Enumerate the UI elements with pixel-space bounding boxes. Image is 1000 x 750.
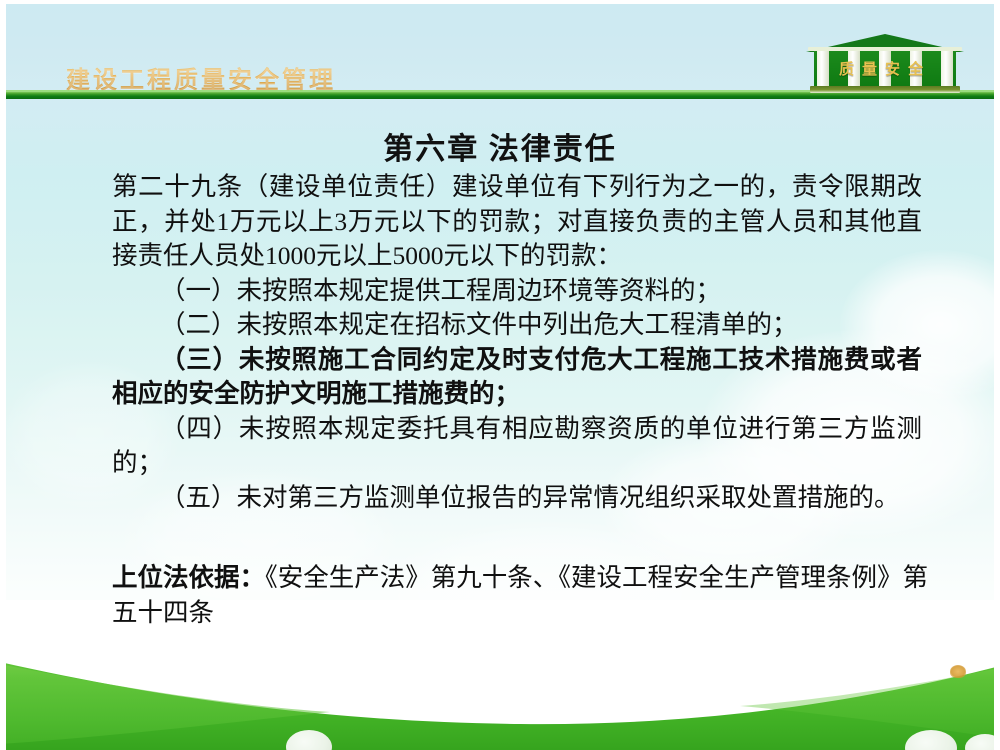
quality-safety-temple-logo: 质量安全 <box>806 34 964 96</box>
page-frame-left <box>0 0 6 750</box>
list-item: （五）未对第三方监测单位报告的异常情况组织采取处置措施的。 <box>112 481 922 516</box>
logo-base <box>810 86 960 93</box>
grass-hill-shape <box>0 640 1000 750</box>
page-frame-right <box>994 0 1000 750</box>
logo-text: 质量安全 <box>814 58 956 79</box>
legal-basis-note: 上位法依据：《安全生产法》第九十条、《建设工程安全生产管理条例》第五十四条 <box>112 560 942 630</box>
page-frame-top <box>0 0 1000 4</box>
slide-title: 第六章 法律责任 <box>0 124 1000 168</box>
tree-decoration <box>950 665 966 678</box>
presentation-slide: 建设工程质量安全管理 质量安全 第六章 法律责任 第二十九条（建设单位责任）建设… <box>0 0 1000 750</box>
list-item: （一）未按照本规定提供工程周边环境等资料的； <box>112 274 922 309</box>
list-item: （四）未按照本规定委托具有相应勘察资质的单位进行第三方监测的； <box>112 412 922 481</box>
grass-hill-decoration <box>0 640 1000 750</box>
slide-body: 第二十九条（建设单位责任）建设单位有下列行为之一的，责令限期改正，并处1万元以上… <box>112 170 922 515</box>
body-intro-paragraph: 第二十九条（建设单位责任）建设单位有下列行为之一的，责令限期改正，并处1万元以上… <box>112 170 922 274</box>
list-item: （二）未按照本规定在招标文件中列出危大工程清单的； <box>112 308 922 343</box>
list-item: （三）未按照施工合同约定及时支付危大工程施工技术措施费或者相应的安全防护文明施工… <box>112 343 922 412</box>
legal-basis-label: 上位法依据： <box>112 563 265 592</box>
